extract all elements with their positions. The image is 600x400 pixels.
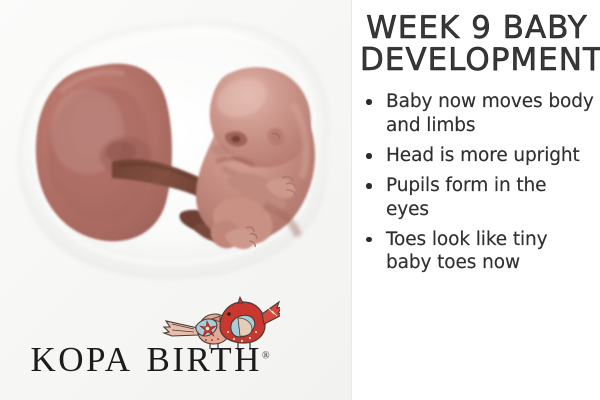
page-title: WEEK 9 BABY DEVELOPMENT bbox=[360, 12, 594, 76]
fact-text: Toes look like tiny baby toes now bbox=[386, 229, 548, 273]
logo-word-kopa: KOPA bbox=[30, 340, 132, 379]
registered-trademark-icon: ® bbox=[262, 350, 270, 361]
infographic-root: KOPABIRTH® WEEK 9 BABY DEVELOPMENT Baby … bbox=[0, 0, 600, 400]
fact-text: Head is more upright bbox=[386, 145, 580, 166]
content-panel: WEEK 9 BABY DEVELOPMENT Baby now moves b… bbox=[352, 0, 600, 400]
page-title-line-2: DEVELOPMENT bbox=[360, 44, 594, 76]
page-title-line-1: WEEK 9 BABY bbox=[360, 12, 594, 44]
logo-wordmark: KOPABIRTH® bbox=[0, 342, 300, 377]
list-item: Baby now moves body and limbs bbox=[364, 90, 594, 137]
fact-text: Baby now moves body and limbs bbox=[386, 91, 594, 135]
fact-text: Pupils form in the eyes bbox=[386, 175, 546, 219]
brand-logo[interactable]: KOPABIRTH® bbox=[0, 294, 352, 394]
list-item: Head is more upright bbox=[364, 144, 594, 167]
bullet-icon bbox=[366, 153, 372, 159]
development-facts-list: Baby now moves body and limbs Head is mo… bbox=[364, 90, 594, 274]
bullet-icon bbox=[366, 237, 372, 243]
illustration-panel: KOPABIRTH® bbox=[0, 0, 352, 400]
list-item: Toes look like tiny baby toes now bbox=[364, 228, 594, 275]
bullet-icon bbox=[366, 99, 372, 105]
fetus-illustration bbox=[0, 0, 352, 304]
list-item: Pupils form in the eyes bbox=[364, 174, 594, 221]
bullet-icon bbox=[366, 183, 372, 189]
logo-word-birth: BIRTH bbox=[147, 340, 262, 379]
